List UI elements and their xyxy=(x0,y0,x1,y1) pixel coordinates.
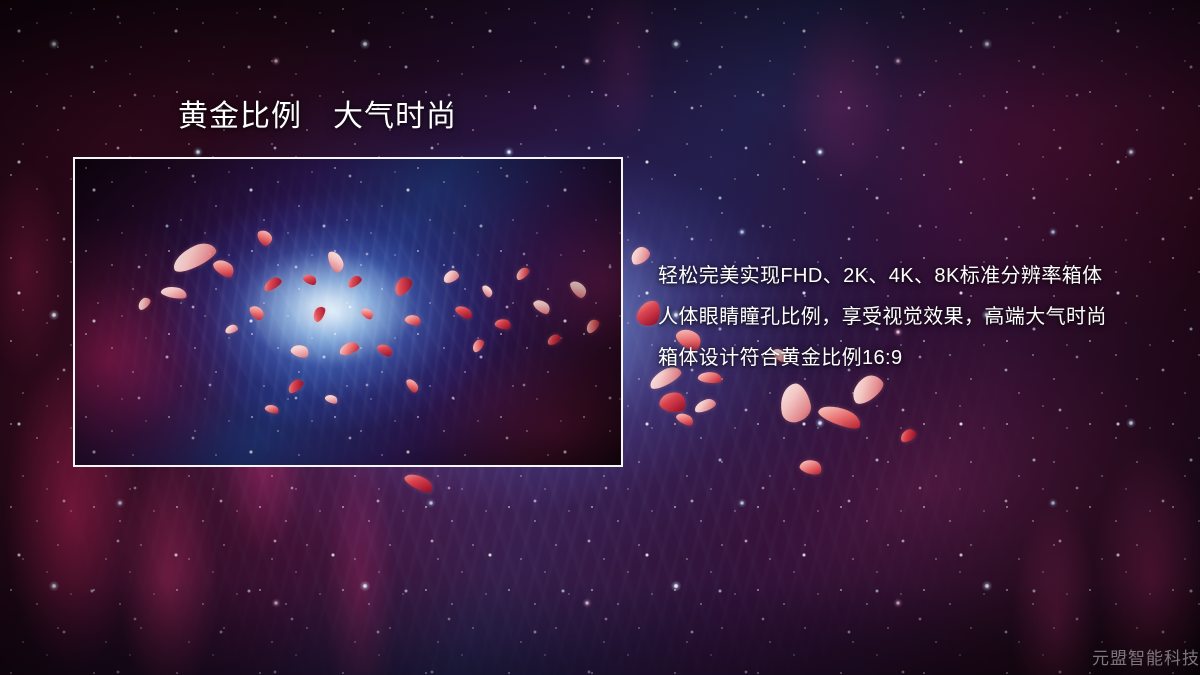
body-text-block: 轻松完美实现FHD、2K、4K、8K标准分辨率箱体 人体眼睛瞳孔比例，享受视觉效… xyxy=(658,256,1178,379)
petal xyxy=(658,389,688,415)
petal xyxy=(776,381,813,424)
body-line-1: 轻松完美实现FHD、2K、4K、8K标准分辨率箱体 xyxy=(658,256,1178,297)
petal xyxy=(403,470,436,496)
petal xyxy=(628,244,653,267)
petal xyxy=(675,410,696,428)
body-line-3: 箱体设计符合黄金比例16:9 xyxy=(658,338,1178,379)
petal xyxy=(693,397,717,414)
framed-image-content xyxy=(75,159,621,465)
petal xyxy=(816,400,863,432)
petal xyxy=(898,427,917,444)
petal xyxy=(798,457,823,477)
slide-canvas: 黄金比例 大气时尚 轻松完美实现FHD、2K、4K、8K标准分辨率箱体 人体眼睛… xyxy=(0,0,1200,675)
watermark-brand: 元盟智能科技 xyxy=(1092,650,1200,667)
page-title: 黄金比例 大气时尚 xyxy=(178,102,457,132)
framed-image xyxy=(73,157,623,467)
framed-image-vignette xyxy=(75,159,621,465)
body-line-2: 人体眼睛瞳孔比例，享受视觉效果，高端大气时尚 xyxy=(658,297,1178,338)
